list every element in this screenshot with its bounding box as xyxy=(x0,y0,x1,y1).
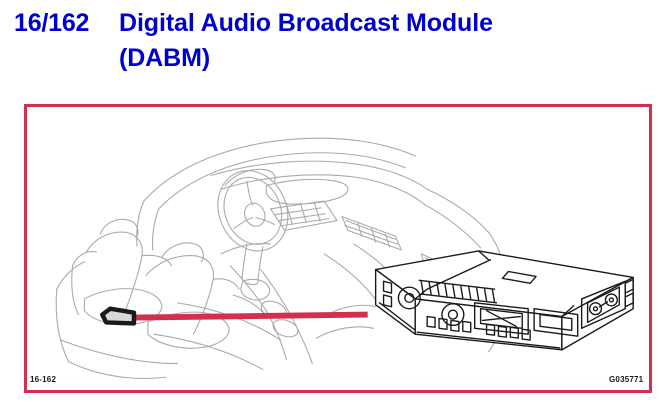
page-title-block: 16/162 Digital Audio Broadcast Module (D… xyxy=(0,0,662,95)
page-title-line-1: Digital Audio Broadcast Module xyxy=(119,9,493,38)
illustration-canvas xyxy=(27,107,649,390)
callout-line xyxy=(134,315,368,318)
callout-arrowhead xyxy=(102,309,134,324)
illustration-frame xyxy=(24,104,652,393)
module-location-pointer xyxy=(102,309,367,324)
page-title-line-2: (DABM) xyxy=(119,44,210,73)
figure-id-right: G035771 xyxy=(609,375,643,384)
digital-audio-broadcast-module-unit xyxy=(376,251,634,350)
section-number: 16/162 xyxy=(14,9,89,38)
figure-id-left: 16-162 xyxy=(30,375,56,384)
